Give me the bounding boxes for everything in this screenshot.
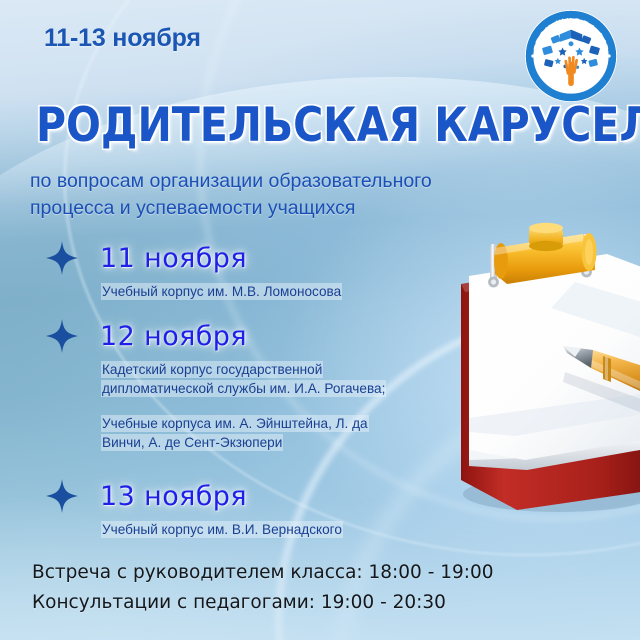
- subtitle-line-1: по вопросам организации образовательного: [30, 168, 500, 195]
- venue-line: Кадетский корпус государственной: [102, 362, 322, 377]
- day-1-venues: Учебный корпус им. М.В. Ломоносова: [102, 282, 341, 301]
- day-2-header: 12 ноября: [0, 316, 385, 356]
- school-emblem-icon: ГБОУ ШКОЛА 947 Школа успешных детей: [524, 9, 618, 103]
- day-3-header: 13 ноября: [0, 476, 342, 516]
- venue-line: Учебный корпус им. М.В. Ломоносова: [102, 284, 341, 299]
- day-1-date: 11 ноября: [100, 243, 247, 274]
- day-3-date: 13 ноября: [100, 481, 247, 512]
- schedule-day-2: 12 ноября Кадетский корпус государственн…: [0, 316, 385, 452]
- venue-line: Винчи, А. де Сент-Экзюпери: [102, 435, 282, 450]
- day-1-header: 11 ноября: [0, 238, 341, 278]
- subtitle-line-2: процесса и успеваемости учащихся: [30, 195, 500, 222]
- venue-line: Учебный корпус им. В.И. Вернадского: [102, 522, 342, 537]
- event-date-range: 11-13 ноября: [44, 24, 201, 53]
- schedule-day-1: 11 ноября Учебный корпус им. М.В. Ломоно…: [0, 238, 341, 301]
- poster-canvas: 11-13 ноября ГБОУ ШКОЛА 947 Школа успешн…: [0, 0, 640, 640]
- day-2-venues-group-2: Учебные корпуса им. А. Эйнштейна, Л. да …: [102, 414, 368, 452]
- day-2-venues-group-1: Кадетский корпус государственной диплома…: [102, 360, 385, 398]
- clipboard-with-pen-icon: [455, 222, 640, 522]
- four-point-star-icon: [46, 319, 78, 353]
- day-2-date: 12 ноября: [100, 321, 247, 352]
- footer-line-2: Консультации с педагогами: 19:00 - 20:30: [32, 588, 494, 618]
- schedule-day-3: 13 ноября Учебный корпус им. В.И. Вернад…: [0, 476, 342, 539]
- four-point-star-icon: [46, 241, 78, 275]
- page-title: РОДИТЕЛЬСКАЯ КАРУСЕЛЬ: [36, 98, 640, 153]
- four-point-star-icon: [46, 479, 78, 513]
- footer-line-1: Встреча с руководителем класса: 18:00 - …: [32, 558, 494, 588]
- footer-times: Встреча с руководителем класса: 18:00 - …: [32, 558, 494, 618]
- venue-line: Учебные корпуса им. А. Эйнштейна, Л. да: [102, 416, 368, 431]
- day-3-venues: Учебный корпус им. В.И. Вернадского: [102, 520, 342, 539]
- venue-line: дипломатической службы им. И.А. Рогачева…: [102, 381, 385, 396]
- page-subtitle: по вопросам организации образовательного…: [30, 168, 500, 222]
